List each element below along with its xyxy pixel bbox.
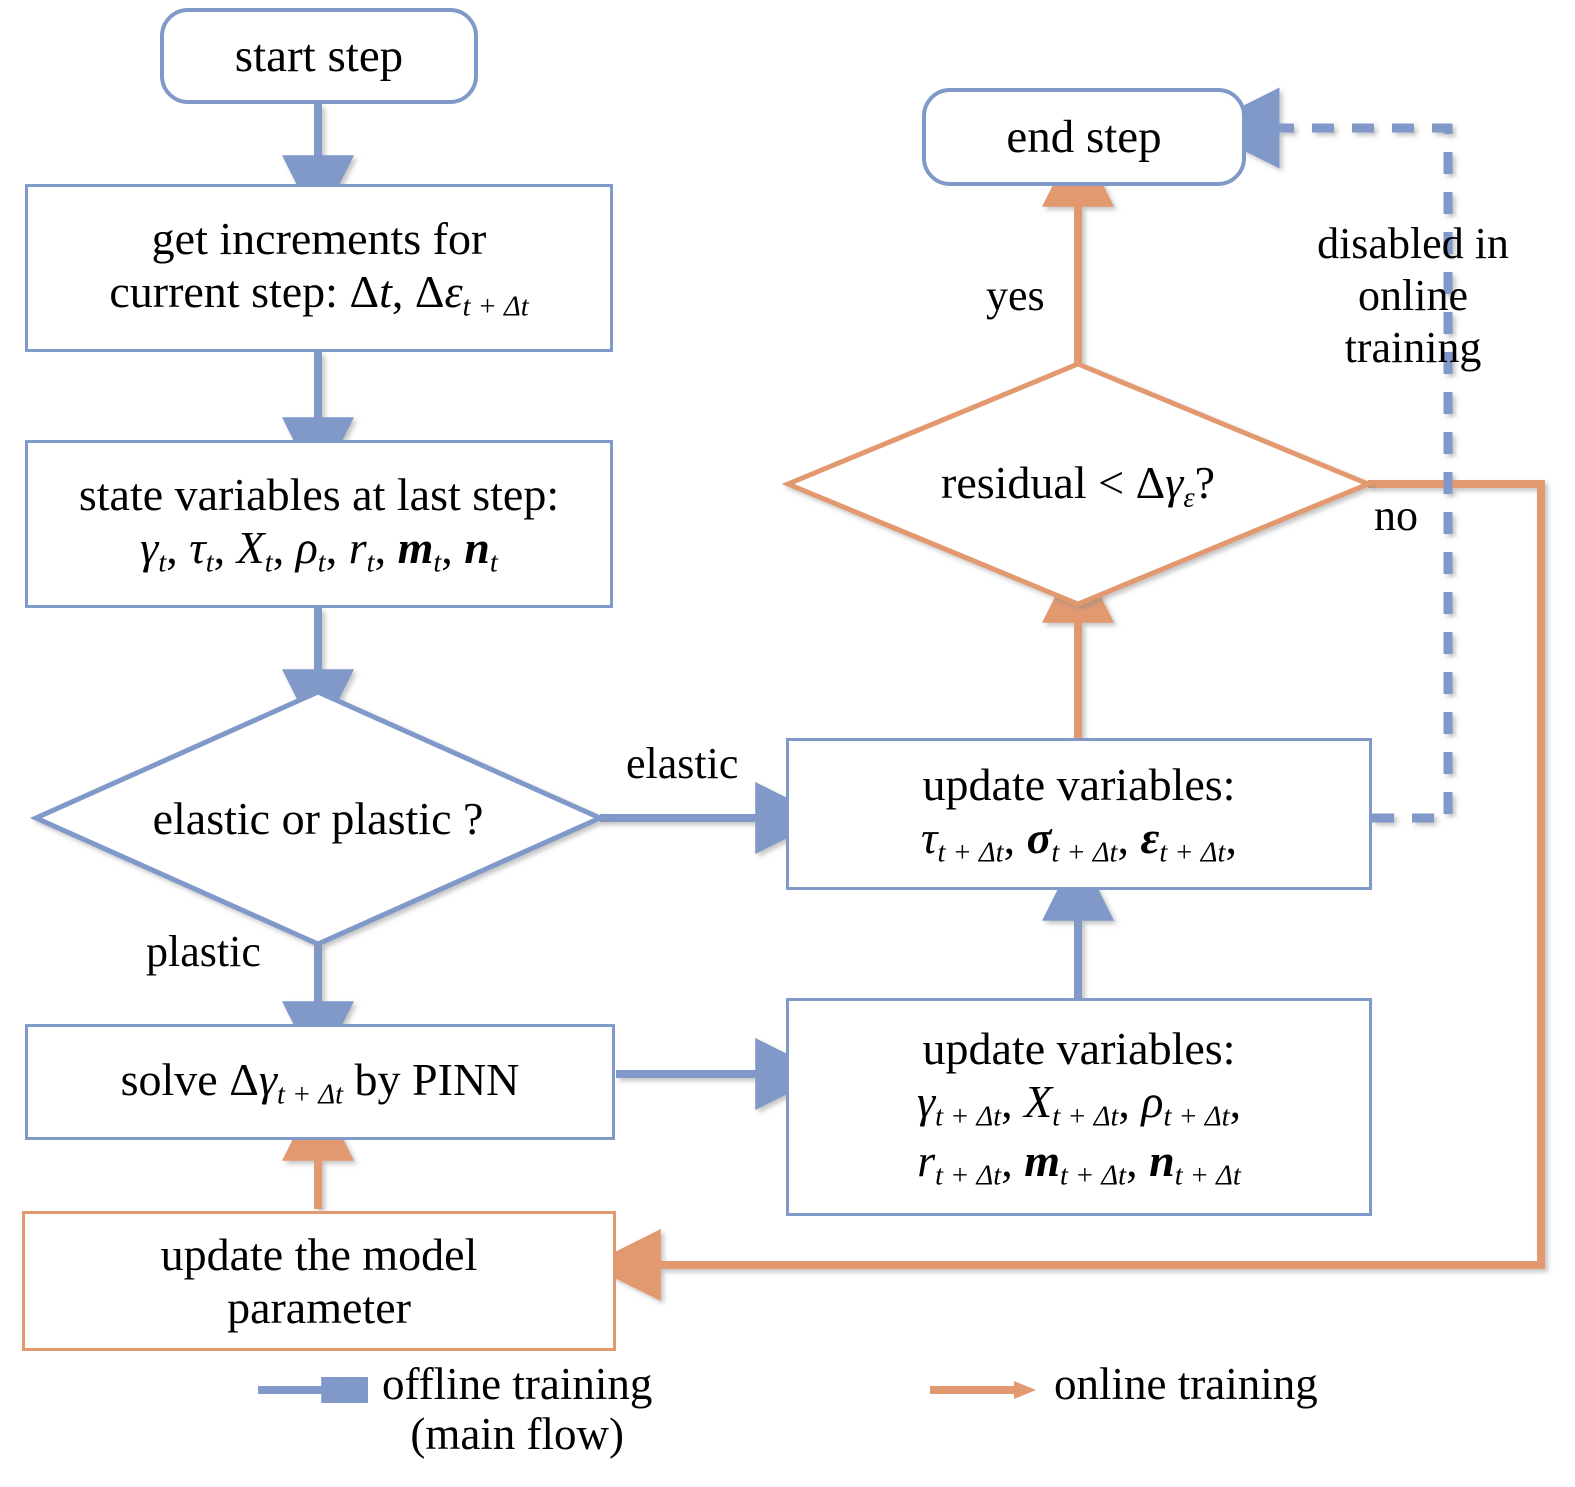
solve-pinn-text: solve Δγt + Δt by PINN bbox=[28, 1053, 612, 1112]
node-get-increments[interactable]: get increments for current step: Δt, Δεt… bbox=[25, 184, 613, 352]
arrow-right-icon bbox=[258, 1377, 368, 1403]
get-increments-comma: , bbox=[392, 266, 415, 317]
residual-operator: < bbox=[1098, 457, 1124, 508]
legend: offline training (main flow) online trai… bbox=[0, 1345, 1575, 1487]
solve-pinn-prefix: solve bbox=[121, 1054, 230, 1105]
disabled-note-line2: online bbox=[1358, 271, 1468, 320]
node-state-variables[interactable]: state variables at last step: γt, τt, Xt… bbox=[25, 440, 613, 608]
get-increments-line1: get increments for bbox=[152, 213, 487, 264]
update-variables-plastic-heading: update variables: bbox=[923, 1023, 1236, 1074]
edge-label-yes: yes bbox=[986, 272, 1045, 320]
legend-online-line1: online training bbox=[1054, 1359, 1318, 1409]
residual-prefix: residual bbox=[941, 457, 1098, 508]
get-increments-line2-prefix: current step: bbox=[109, 266, 349, 317]
get-increments-sub: t + Δt bbox=[463, 292, 529, 323]
legend-offline-line1: offline training bbox=[382, 1359, 652, 1409]
arrow-right-icon bbox=[930, 1377, 1040, 1403]
update-model-parameter-line2: parameter bbox=[227, 1282, 411, 1333]
end-step-label: end step bbox=[926, 110, 1242, 165]
annotation-disabled-in-online-training: disabled in online training bbox=[1284, 218, 1542, 374]
edge-label-plastic: plastic bbox=[146, 928, 261, 976]
legend-item-offline: offline training (main flow) bbox=[258, 1359, 652, 1460]
decision-residual-label: residual < Δγε? bbox=[878, 458, 1278, 514]
edge-label-no: no bbox=[1374, 492, 1418, 540]
update-model-parameter-line1: update the model bbox=[161, 1229, 478, 1280]
update-variables-elastic-heading: update variables: bbox=[923, 759, 1236, 810]
flowchart-canvas: start step end step get increments for c… bbox=[0, 0, 1575, 1487]
residual-suffix: ? bbox=[1195, 457, 1215, 508]
start-step-label: start step bbox=[164, 29, 474, 84]
legend-offline-text: offline training (main flow) bbox=[382, 1359, 652, 1460]
legend-item-online: online training bbox=[930, 1359, 1318, 1409]
decision-elastic-or-plastic-label: elastic or plastic ? bbox=[118, 794, 518, 845]
node-update-variables-plastic[interactable]: update variables: γt + Δt, Xt + Δt, ρt +… bbox=[786, 998, 1372, 1216]
update-variables-plastic-text: update variables: γt + Δt, Xt + Δt, ρt +… bbox=[789, 1022, 1369, 1193]
node-solve-pinn[interactable]: solve Δγt + Δt by PINN bbox=[25, 1024, 615, 1140]
solve-pinn-sub: t + Δt bbox=[277, 1079, 343, 1110]
update-variables-elastic-text: update variables: τt + Δt, σt + Δt, εt +… bbox=[789, 758, 1369, 870]
edge-label-elastic: elastic bbox=[626, 740, 738, 788]
node-update-model-parameter[interactable]: update the model parameter bbox=[22, 1211, 616, 1351]
node-update-variables-elastic[interactable]: update variables: τt + Δt, σt + Δt, εt +… bbox=[786, 738, 1372, 890]
update-model-parameter-text: update the model parameter bbox=[25, 1228, 613, 1335]
solve-pinn-suffix: by PINN bbox=[343, 1054, 519, 1105]
disabled-note-line3: training bbox=[1345, 323, 1482, 372]
node-start-step[interactable]: start step bbox=[160, 8, 478, 104]
get-increments-text: get increments for current step: Δt, Δεt… bbox=[28, 212, 610, 324]
state-variables-text: state variables at last step: γt, τt, Xt… bbox=[28, 468, 610, 580]
disabled-note-line1: disabled in bbox=[1317, 219, 1509, 268]
node-end-step[interactable]: end step bbox=[922, 88, 1246, 186]
legend-online-text: online training bbox=[1054, 1359, 1318, 1409]
state-variables-line1: state variables at last step: bbox=[79, 469, 559, 520]
legend-offline-line2: (main flow) bbox=[410, 1409, 624, 1459]
